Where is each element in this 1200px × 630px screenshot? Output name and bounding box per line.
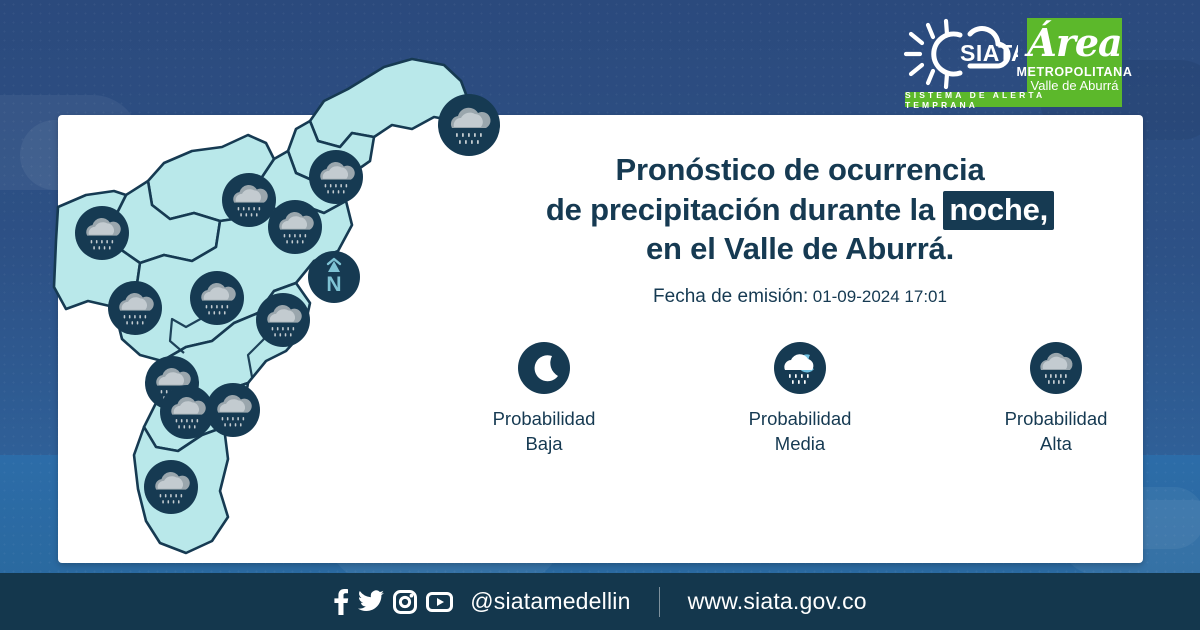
map-marker-rain: [268, 200, 322, 254]
valle-de-aburra-map: N: [52, 55, 472, 565]
legend-label-line1: Probabilidad: [493, 407, 596, 432]
page-title: Pronóstico de ocurrencia de precipitació…: [470, 150, 1130, 269]
area-script-text: Área: [1027, 24, 1122, 62]
legend-item-alta: Probabilidad Alta: [982, 342, 1130, 457]
legend-label-line2: Baja: [493, 432, 596, 457]
compass-north-icon: N: [308, 251, 360, 303]
cloud-heavy-rain-icon: [1030, 342, 1082, 394]
twitter-icon[interactable]: [358, 590, 384, 613]
facebook-icon[interactable]: [333, 589, 349, 615]
tagline-bar: SISTEMA DE ALERTA TEMPRANA: [905, 92, 1122, 107]
area-metropolitana-line1: METROPOLITANA: [1017, 65, 1133, 79]
map-marker-rain: [190, 271, 244, 325]
map-marker-rain: [256, 293, 310, 347]
legend-label-alta: Probabilidad Alta: [1005, 407, 1108, 457]
emission-date: Fecha de emisión: 01-09-2024 17:01: [470, 286, 1130, 308]
map-marker-rain: [108, 281, 162, 335]
svg-text:N: N: [326, 273, 341, 296]
youtube-icon[interactable]: [426, 592, 453, 612]
title-line-3: en el Valle de Aburrá.: [470, 229, 1130, 269]
forecast-panel: Pronóstico de ocurrencia de precipitació…: [470, 150, 1130, 457]
social-links: [333, 589, 453, 615]
emission-date-label: Fecha de emisión:: [653, 286, 808, 307]
svg-text:SIATA: SIATA: [960, 40, 1018, 66]
brand-logos: SIATA Área METROPOLITANA Valle de Aburrá: [898, 18, 1122, 98]
legend-label-line1: Probabilidad: [1005, 407, 1108, 432]
map-marker-rain: [438, 94, 500, 156]
cloud-moon-rain-icon: [774, 342, 826, 394]
area-metropolitana-logo: Área METROPOLITANA Valle de Aburrá: [1027, 18, 1122, 98]
map-marker-rain: [75, 206, 129, 260]
instagram-icon[interactable]: [393, 590, 417, 614]
legend-item-baja: Probabilidad Baja: [470, 342, 618, 457]
title-highlight-noche: noche,: [943, 191, 1054, 230]
footer-divider: [659, 587, 660, 617]
website-url[interactable]: www.siata.gov.co: [688, 588, 867, 615]
legend-label-line2: Media: [749, 432, 852, 457]
moon-icon: [518, 342, 570, 394]
legend-label-baja: Probabilidad Baja: [493, 407, 596, 457]
legend-label-line1: Probabilidad: [749, 407, 852, 432]
social-handle[interactable]: @siatamedellin: [470, 588, 630, 615]
legend-label-line2: Alta: [1005, 432, 1108, 457]
title-line-2-text: de precipitación durante la: [546, 192, 935, 227]
footer-bar: @siatamedellin www.siata.gov.co: [0, 573, 1200, 630]
map-marker-rain: [309, 150, 363, 204]
title-line-2: de precipitación durante la noche,: [470, 190, 1130, 230]
map-marker-rain: [144, 460, 198, 514]
probability-legend: Probabilidad Baja: [470, 342, 1130, 457]
emission-date-value: 01-09-2024 17:01: [813, 287, 947, 306]
map-marker-rain: [206, 383, 260, 437]
siata-logo: SIATA: [898, 18, 1018, 90]
title-line-1: Pronóstico de ocurrencia: [470, 150, 1130, 190]
legend-item-media: Probabilidad Media: [726, 342, 874, 457]
legend-label-media: Probabilidad Media: [749, 407, 852, 457]
